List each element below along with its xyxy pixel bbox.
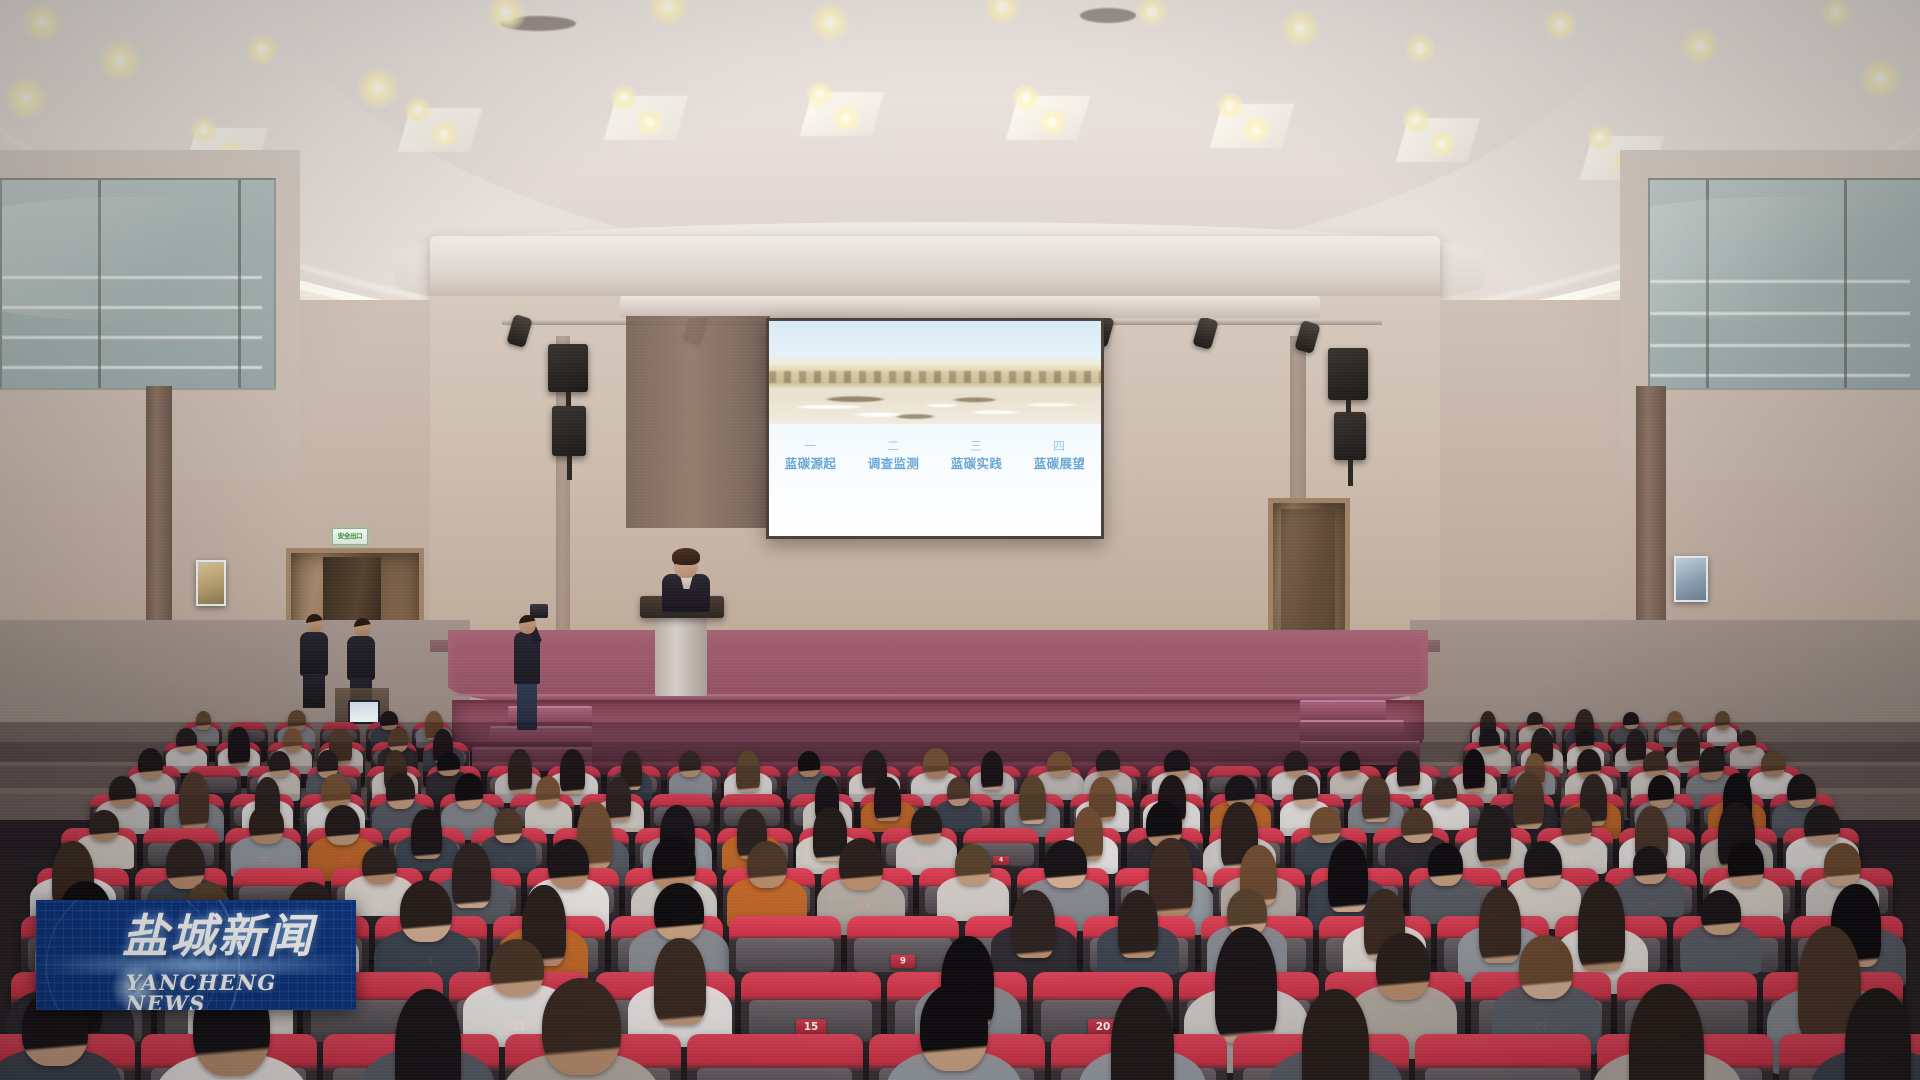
seat-number-plaque: 9 [891,955,915,968]
downlight-core [1251,125,1261,135]
wall-speaker [1334,412,1366,460]
downlight-core [1414,42,1426,54]
audience-member-head [920,983,988,1070]
podium-base [655,612,707,696]
downlight-core [815,89,825,99]
downlight-core [372,82,384,94]
glass-balcony-right [1648,178,1920,390]
stage-soffit [430,236,1440,302]
audience-member-head [1519,935,1573,999]
glass-balcony-left [0,178,276,390]
downlight-core [996,0,1008,12]
audience-member-head [400,880,452,943]
downlight-core [256,44,268,56]
slide-section-2: 二 调查监测 [868,440,920,471]
logo-chinese-title: 盐城新闻 [122,912,314,960]
seat-headrest [1425,1068,1580,1080]
slide-body: 一 蓝碳源起 二 调查监测 三 蓝碳实践 四 蓝碳展望 [769,424,1101,536]
slide-section-3: 三 蓝碳实践 [951,440,1003,471]
audience-member-head [1302,989,1368,1080]
video-camera [530,604,548,618]
slide-section-1-title: 蓝碳源起 [785,458,837,471]
seat-headrest [697,1068,852,1080]
downlight-core [619,93,629,103]
exit-sign-label: 安全出口 [338,533,362,540]
broadcast-logo: 盐城新闻 YANCHENG NEWS [36,900,356,1010]
audience-member-head [654,883,704,939]
wall-pillar-left [146,386,172,636]
slide-section-2-number: 二 [887,440,900,452]
emergency-exit-sign: 安全出口 [332,528,368,545]
audience-member-head [1479,887,1522,963]
attendee-torso [347,636,375,680]
downlight-core [20,92,32,104]
audience-member-head [1012,890,1055,958]
seat-number-label: 20 [1095,1023,1110,1034]
downlight-core [500,6,512,18]
presentation-screen: 一 蓝碳源起 二 调查监测 三 蓝碳实践 四 蓝碳展望 [766,318,1104,539]
audience-member-head [1578,881,1625,971]
downlight-core [439,129,449,139]
presenter-hair [672,548,700,565]
slide-section-2-title: 调查监测 [868,458,920,471]
slide-section-1-number: 一 [804,440,817,452]
wall-speaker [552,406,586,456]
audience-member-head [1118,890,1159,958]
downlight-core [1874,72,1886,84]
downlight-core [1021,93,1031,103]
auditorium-seat[interactable]: 22 [687,1034,863,1080]
downlight-core [413,105,423,115]
downlight-core [1411,115,1421,125]
downlight-core [114,54,126,66]
downlight-core [199,125,209,135]
slide-section-3-title: 蓝碳实践 [951,458,1003,471]
downlight-core [662,0,674,12]
downlight-core [1437,139,1447,149]
audience-member-head [654,938,706,1025]
downlight-core [1146,6,1158,18]
wall-pillar-right [1636,386,1666,636]
wall-speaker [548,344,588,392]
screen-housing [620,296,1320,318]
ceiling-vent [1080,8,1136,23]
auditorium-seat[interactable]: 18 [1415,1034,1591,1080]
wall-speaker [1328,348,1368,400]
downlight-core [841,113,851,123]
slide-section-4-title: 蓝碳展望 [1034,458,1086,471]
audience-seating-area: 2124231610864571113151710171117194213591… [0,700,1920,1080]
wall-art-left [196,560,226,606]
downlight-core [1294,22,1306,34]
downlight-core [1047,117,1057,127]
downlight-core [36,16,48,28]
audience-member-head [1376,933,1430,1000]
logo-english-title: YANCHENG NEWS [126,972,356,1010]
audience-member-head [542,978,621,1075]
slide-section-1: 一 蓝碳源起 [785,440,837,471]
seat-number-label: 15 [803,1023,818,1034]
attendee-head [306,614,323,633]
wall-art-right [1674,556,1708,602]
attendee-torso [300,632,328,676]
downlight-core [645,117,655,127]
seat-headrest [736,938,835,972]
downlight-core [1694,40,1706,52]
seat-number-label: 9 [900,958,906,967]
slide-header-photo [769,321,1101,424]
slide-section-3-number: 三 [970,440,983,452]
screenshot-frame: 一 蓝碳源起 二 调查监测 三 蓝碳实践 四 蓝碳展望 [0,0,1920,1080]
downlight-core [1225,101,1235,111]
downlight-core [824,16,836,28]
downlight-core [1554,18,1566,30]
downlight-core [1595,133,1605,143]
slide-section-4-number: 四 [1053,440,1066,452]
audience-member-head [490,939,544,997]
audience-member-head [1701,890,1741,935]
screen-side-drape [626,316,770,528]
slide-section-4: 四 蓝碳展望 [1034,440,1086,471]
downlight-core [1830,6,1842,18]
audience-member-head [1215,927,1277,1043]
slide-section-list: 一 蓝碳源起 二 调查监测 三 蓝碳实践 四 蓝碳展望 [769,440,1101,471]
attendee-head [354,618,371,637]
